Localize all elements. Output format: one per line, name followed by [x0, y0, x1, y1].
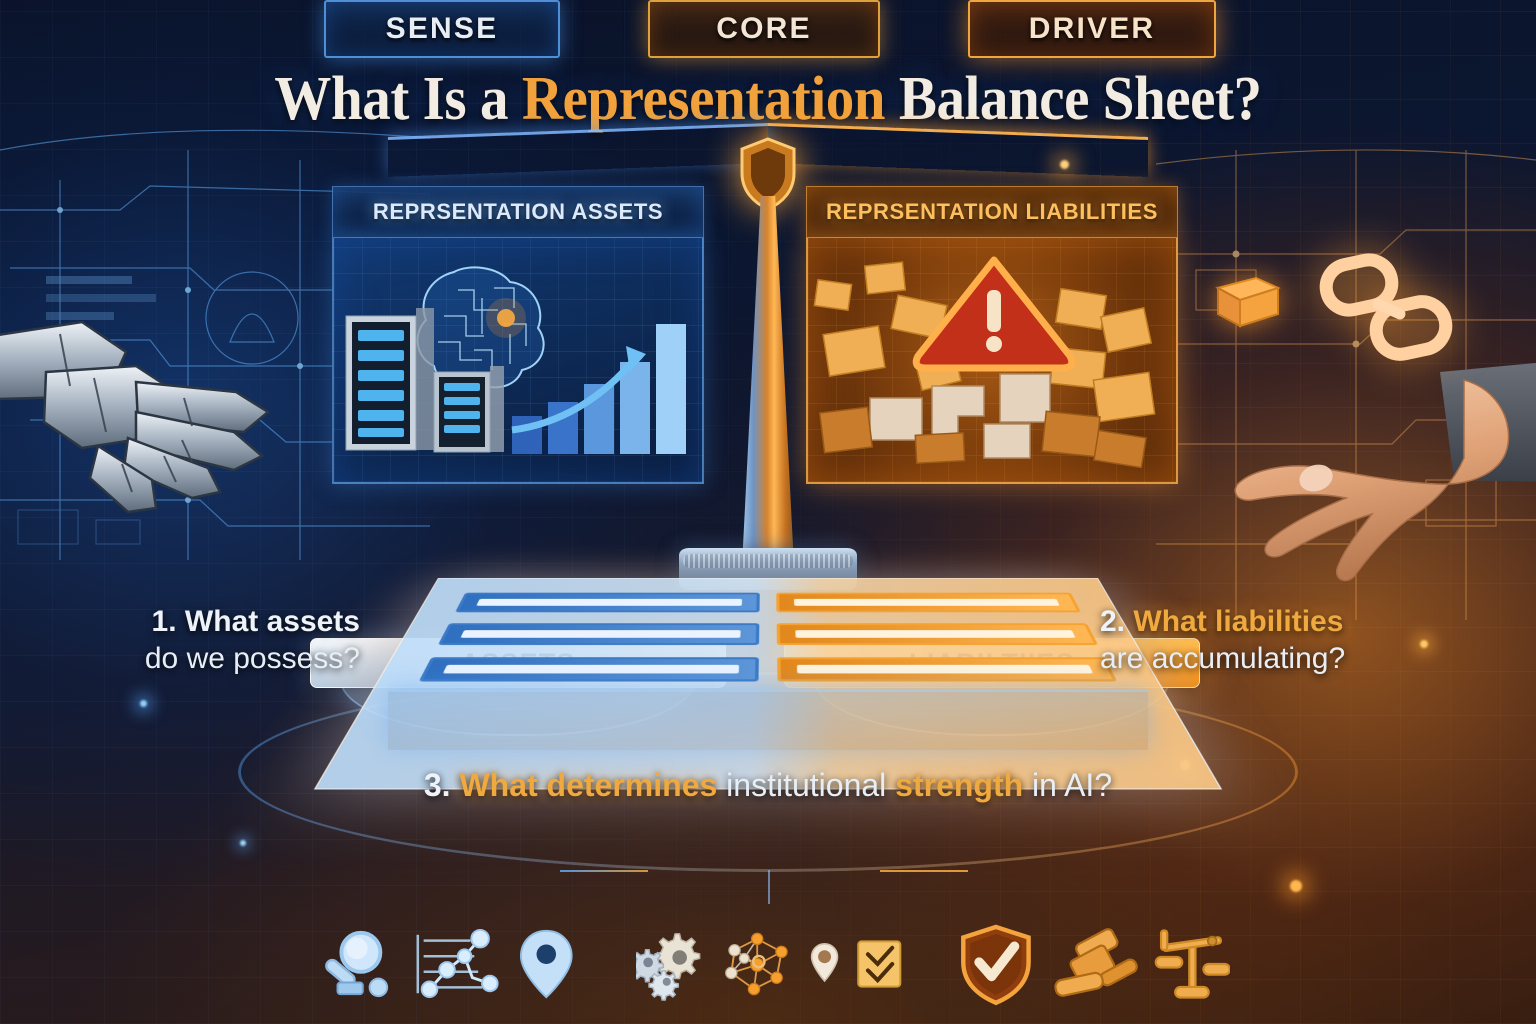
scales-icon — [1154, 920, 1230, 1008]
liabilities-panel-header: REPRSENTATION LIABILITIES — [806, 186, 1178, 238]
title-part-1: What Is a — [274, 65, 521, 133]
pin-icon — [810, 937, 839, 991]
bokeh-glow — [140, 700, 147, 707]
checklist-icon — [855, 932, 904, 996]
question-3-segment-4: in AI? — [1032, 767, 1112, 803]
server-rack-icon — [434, 366, 504, 452]
ledger-row — [777, 657, 1117, 681]
magnifier-icon — [318, 925, 394, 1003]
question-3-segment-2: institutional — [726, 767, 886, 803]
liabilities-scene — [808, 238, 1178, 484]
driver-icon-row — [958, 912, 1230, 1016]
question-2-line1: What liabilities — [1133, 605, 1343, 638]
assets-panel-body — [332, 238, 704, 484]
ledger-base — [388, 690, 1148, 750]
question-1-number: 1. — [152, 605, 177, 638]
human-hand-icon — [1226, 362, 1536, 592]
title-part-highlight: Representation — [522, 65, 885, 133]
page-title: What Is a Representation Balance Sheet? — [61, 68, 1474, 130]
beam-arm-left — [388, 123, 768, 177]
network-graph-icon — [720, 923, 794, 1005]
liabilities-panel-body — [806, 238, 1178, 484]
core-icon-row — [636, 912, 904, 1016]
floating-cube-icon — [1210, 268, 1286, 334]
beam-arm-right — [768, 123, 1148, 177]
question-2-number: 2. — [1100, 605, 1125, 638]
pillar-connector-left — [560, 870, 648, 872]
bokeh-glow — [1290, 880, 1302, 892]
balance-column — [742, 196, 794, 566]
ledger-slab — [314, 578, 1222, 789]
question-2: 2. What liabilities are accumulating? — [1100, 604, 1450, 677]
ledger-row — [455, 593, 760, 613]
pillar-connector-drop — [768, 870, 770, 904]
ledger-row — [438, 623, 760, 645]
question-1: 1. What assets do we possess? — [60, 604, 360, 677]
bokeh-glow — [240, 840, 246, 846]
chain-link-icon — [1312, 248, 1462, 368]
ledger-row — [776, 593, 1081, 613]
pillar-driver[interactable]: DRIVER — [968, 0, 1216, 58]
ledger-row — [419, 657, 759, 681]
map-pin-icon — [519, 926, 574, 1002]
gavel-icon — [1050, 918, 1138, 1010]
ledger-row — [777, 623, 1099, 645]
robot-hand-icon — [0, 300, 286, 550]
liabilities-panel: REPRSENTATION LIABILITIES — [806, 186, 1178, 484]
infographic-canvas: What Is a Representation Balance Sheet? … — [0, 0, 1536, 1024]
title-part-3: Balance Sheet? — [885, 65, 1262, 133]
question-1-line1: What assets — [185, 605, 360, 638]
server-rack-icon — [346, 308, 434, 450]
pillar-sense[interactable]: SENSE — [324, 0, 560, 58]
sense-icon-row — [318, 912, 574, 1016]
node-line-chart-icon — [410, 926, 504, 1002]
assets-scene — [334, 238, 704, 484]
question-1-line2: do we possess? — [145, 642, 360, 675]
question-2-line2: are accumulating? — [1100, 642, 1345, 675]
pillar-connector-right — [880, 870, 968, 872]
question-3-segment-3: strength — [895, 767, 1023, 803]
gears-icon — [636, 923, 704, 1005]
question-3: 3. What determines institutional strengt… — [0, 766, 1536, 805]
question-3-number: 3. — [424, 767, 451, 803]
question-3-segment-1: What determines — [459, 767, 717, 803]
assets-panel-header: REPRSENTATION ASSETS — [332, 186, 704, 238]
shield-check-icon — [958, 918, 1034, 1010]
assets-panel: REPRSENTATION ASSETS — [332, 186, 704, 484]
pillar-core[interactable]: CORE — [648, 0, 880, 58]
